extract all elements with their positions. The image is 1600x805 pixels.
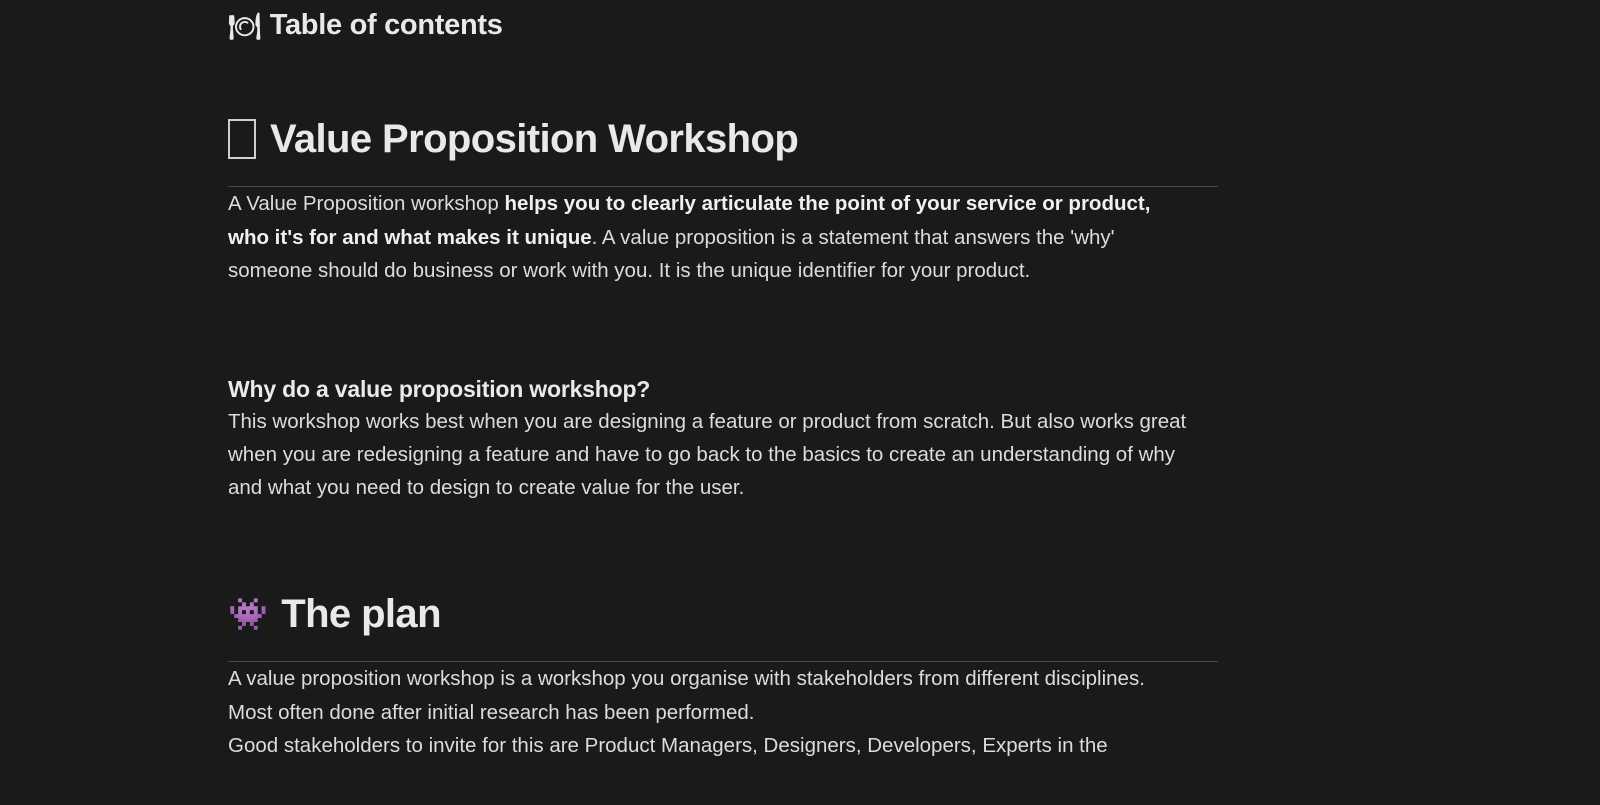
plan-text-line1: A value proposition workshop is a worksh… <box>228 662 1188 728</box>
subsection-heading-why: Why do a value proposition workshop? <box>228 375 1218 405</box>
plan-paragraph: A value proposition workshop is a worksh… <box>228 662 1188 762</box>
missing-glyph-box-icon <box>228 119 256 159</box>
intro-text-part1: A Value Proposition workshop <box>228 192 505 215</box>
section-title-value-proposition: Value Proposition Workshop <box>228 116 1218 162</box>
subsection-paragraph-why: This workshop works best when you are de… <box>228 405 1188 505</box>
section-title-label: Value Proposition Workshop <box>270 116 798 162</box>
document-page: 🍽 Table of contents Value Proposition Wo… <box>0 0 1600 805</box>
content-column: 🍽 Table of contents Value Proposition Wo… <box>228 0 1218 762</box>
fork-plate-knife-icon: 🍽 <box>228 13 261 39</box>
intro-paragraph: A Value Proposition workshop helps you t… <box>228 187 1188 287</box>
section-title-label-plan: The plan <box>281 591 441 637</box>
space-invader-icon: 👾 <box>228 598 267 630</box>
plan-text-line2: Good stakeholders to invite for this are… <box>228 729 1188 762</box>
section-title-the-plan: 👾 The plan <box>228 591 1218 637</box>
table-of-contents-heading: 🍽 Table of contents <box>228 0 1218 42</box>
table-of-contents-label: Table of contents <box>270 9 503 42</box>
